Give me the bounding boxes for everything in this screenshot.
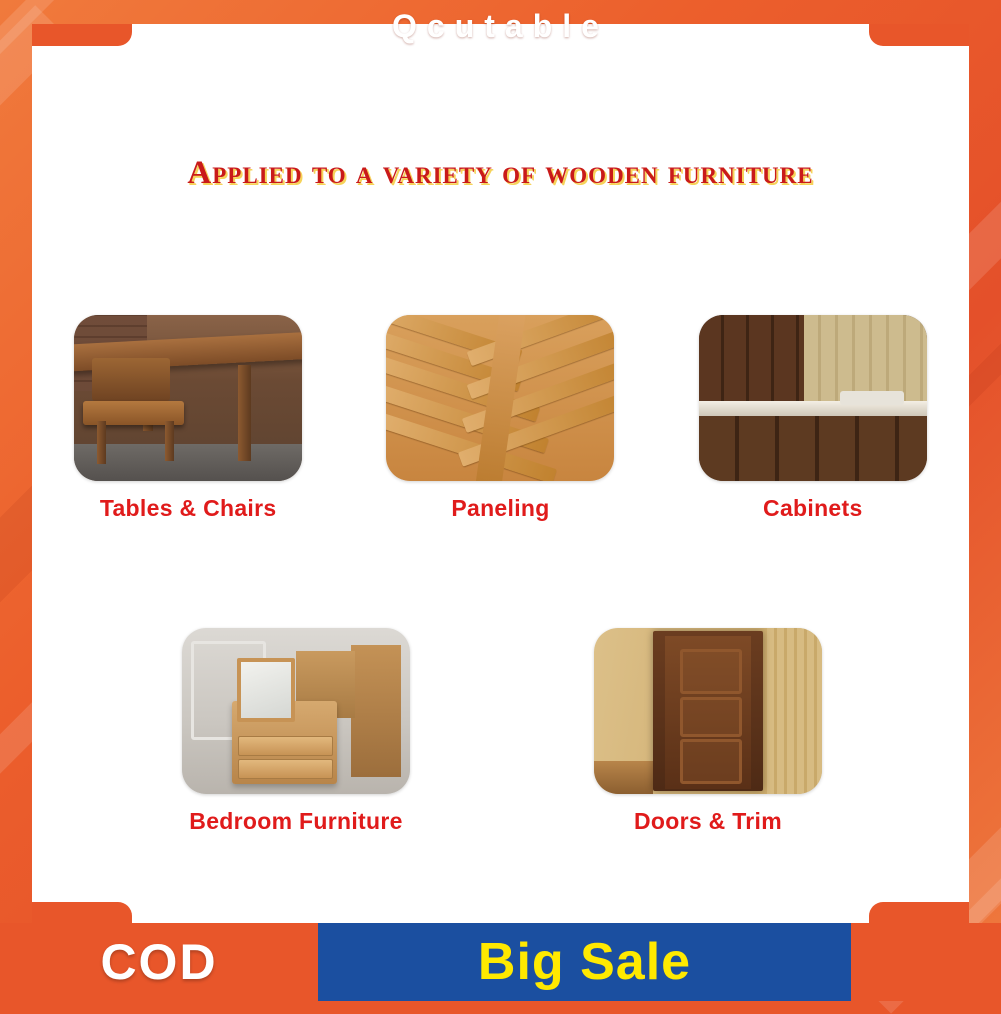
thumbnail-paneling (386, 315, 614, 481)
wooden-table-and-chairs-photo (74, 315, 302, 481)
thumbnail-tables-chairs (74, 315, 302, 481)
corner-notch-bottom-right (869, 902, 969, 924)
feature-caption: Doors & Trim (634, 808, 782, 835)
footer-end-block (851, 923, 1001, 1001)
feature-caption: Bedroom Furniture (189, 808, 402, 835)
page-headline: Applied to a variety of wooden furniture (32, 155, 969, 192)
feature-item-doors-trim: Doors & Trim (594, 628, 822, 835)
thumbnail-cabinets (699, 315, 927, 481)
feature-row-2: Bedroom Furniture Doors & Trim (182, 628, 822, 835)
feature-item-paneling: Paneling (386, 315, 614, 522)
wood-parquet-paneling-photo (386, 315, 614, 481)
corner-notch-bottom-left (32, 902, 132, 924)
thumbnail-bedroom-furniture (182, 628, 410, 794)
footer-bar: COD Big Sale (0, 923, 1001, 1001)
kitchen-wooden-cabinets-photo (699, 315, 927, 481)
feature-caption: Paneling (451, 495, 549, 522)
brand-title: Qcutable (0, 0, 1001, 56)
cod-badge: COD (0, 923, 318, 1001)
feature-row-1: Tables & Chairs Paneling (32, 315, 969, 522)
wooden-door-and-trim-photo (594, 628, 822, 794)
feature-caption: Tables & Chairs (100, 495, 277, 522)
feature-item-cabinets: Cabinets (699, 315, 927, 522)
thumbnail-doors-trim (594, 628, 822, 794)
feature-item-tables-chairs: Tables & Chairs (74, 315, 302, 522)
big-sale-banner: Big Sale (318, 923, 851, 1001)
feature-caption: Cabinets (763, 495, 863, 522)
feature-item-bedroom-furniture: Bedroom Furniture (182, 628, 410, 835)
wooden-dresser-with-mirror-photo (182, 628, 410, 794)
